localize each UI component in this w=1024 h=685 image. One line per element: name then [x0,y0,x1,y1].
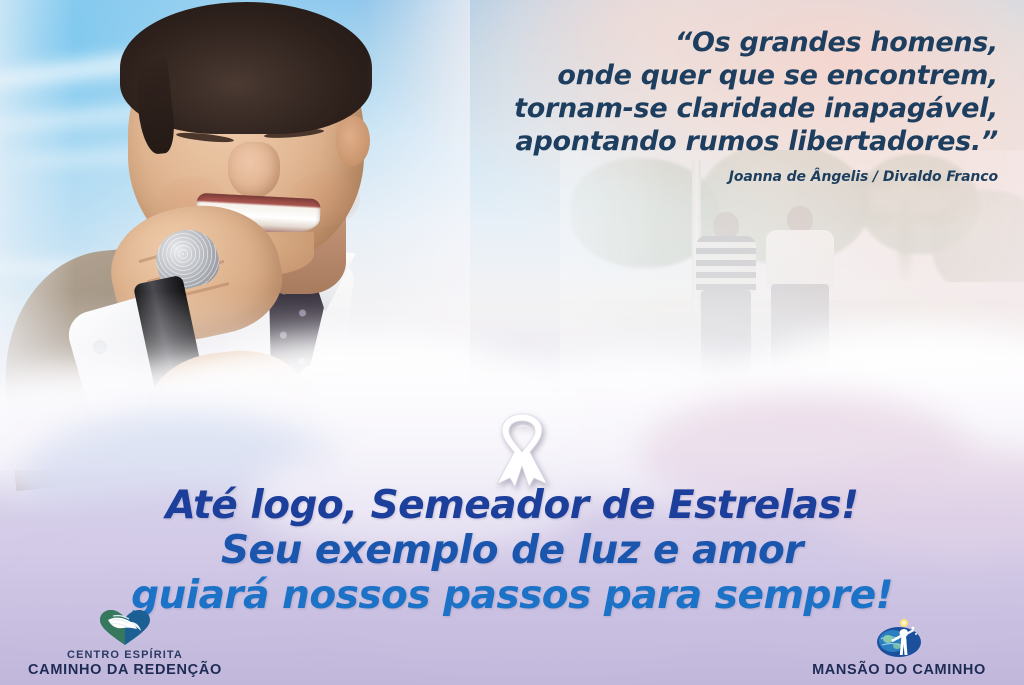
quote-line-2: onde quer que se encontrem, [398,59,998,92]
headline-block: Até logo, Semeador de Estrelas! Seu exem… [0,486,1024,615]
quote-attribution: Joanna de Ângelis / Divaldo Franco [398,169,998,185]
heart-hands-icon [97,608,153,646]
logo-left-line-2: CAMINHO DA REDENÇÃO [10,662,240,679]
quote-block: “Os grandes homens, onde quer que se enc… [398,26,998,185]
headline-line-1: Até logo, Semeador de Estrelas! [0,486,1024,525]
logo-left-line-1: CENTRO ESPÍRITA [10,649,240,662]
logo-right-line-2: MANSÃO DO CAMINHO [784,662,1014,679]
quote-line-4: apontando rumos libertadores.” [398,125,998,158]
quote-line-1: “Os grandes homens, [398,26,998,59]
globe-figure-torch-icon [873,617,925,659]
logo-mansao-do-caminho: MANSÃO DO CAMINHO [784,617,1014,679]
memorial-poster: “Os grandes homens, onde quer que se enc… [0,0,1024,685]
quote-line-3: tornam-se claridade inapagável, [398,92,998,125]
logo-centro-espirita-caminho-da-redencao: CENTRO ESPÍRITA CAMINHO DA REDENÇÃO [10,608,240,679]
headline-line-2: Seu exemplo de luz e amor [0,531,1024,570]
white-mourning-ribbon-icon [489,408,555,490]
